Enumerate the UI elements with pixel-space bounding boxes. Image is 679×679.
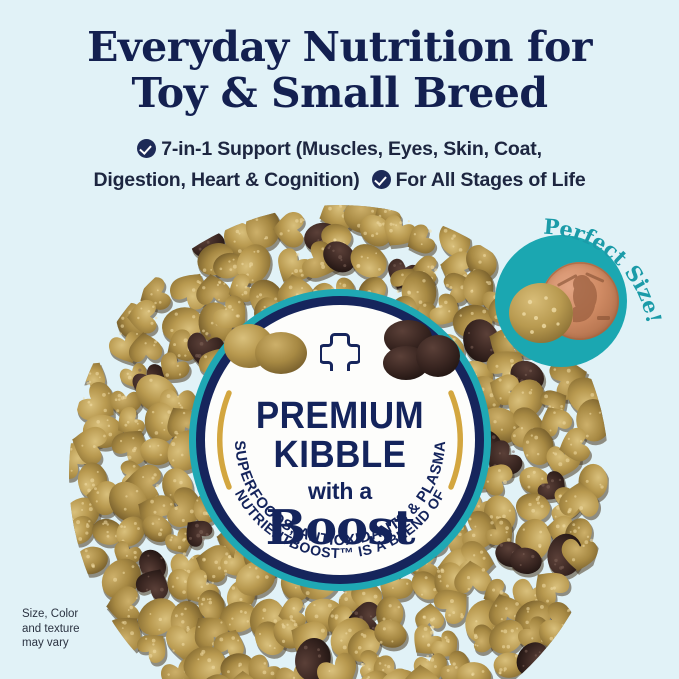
check-circle-icon-2 [372, 170, 391, 189]
bullet-text-1: 7-in-1 Support (Muscles, Eyes, Skin, Coa… [161, 138, 542, 160]
perfect-size-callout: Perfect Size! [480, 200, 679, 380]
bullet-text-3: For All Stages of Life [396, 169, 586, 191]
headline-line-1: Everyday Nutrition for [87, 23, 592, 71]
product-marketing-image: Everyday Nutrition for Toy & Small Breed… [0, 0, 679, 679]
badge-arc-text: NUTRIENTBOOST™ IS A BLEND OF SUPERFOODS,… [205, 305, 475, 575]
disclaimer-line-3: may vary [22, 636, 80, 651]
callout-arc-label: Perfect Size! [480, 200, 679, 380]
premium-kibble-badge: PREMIUM KIBBLE with a Boost NUTRIENTBOOS… [189, 289, 491, 591]
bullet-row-2: Digestion, Heart & Cognition)For All Sta… [0, 165, 679, 196]
headline-line-2: Toy & Small Breed [0, 70, 679, 116]
perfect-size-text: Perfect Size! [543, 214, 667, 325]
bullet-text-2: Digestion, Heart & Cognition) [93, 169, 359, 191]
disclaimer-line-1: Size, Color [22, 607, 80, 622]
disclaimer-line-2: and texture [22, 622, 80, 637]
disclaimer-text: Size, Color and texture may vary [22, 607, 80, 651]
check-circle-icon [137, 139, 156, 158]
bullet-row-1: 7-in-1 Support (Muscles, Eyes, Skin, Coa… [0, 134, 679, 165]
page-title: Everyday Nutrition for Toy & Small Breed [0, 24, 679, 116]
feature-bullets: 7-in-1 Support (Muscles, Eyes, Skin, Coa… [0, 134, 679, 196]
